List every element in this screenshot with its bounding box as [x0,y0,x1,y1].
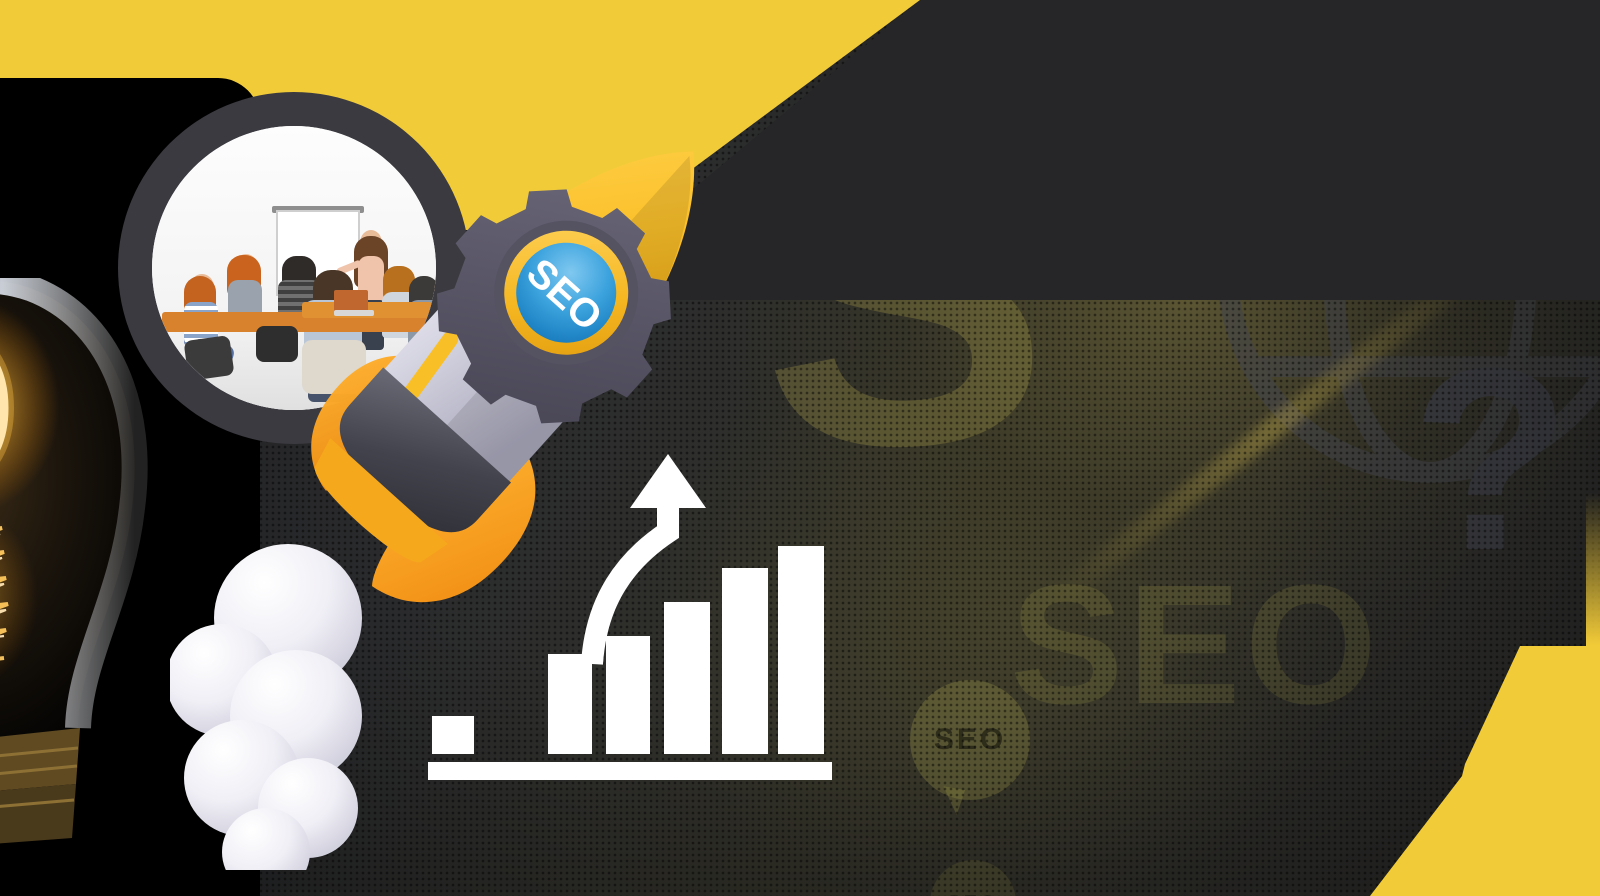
photo-chair [183,335,234,381]
seo-banner: S ? SEO SEO SEO [0,0,1600,896]
yellow-right-edge [1586,0,1600,896]
exhaust-smoke-cloud [170,540,470,870]
chart-baseline [428,762,832,780]
